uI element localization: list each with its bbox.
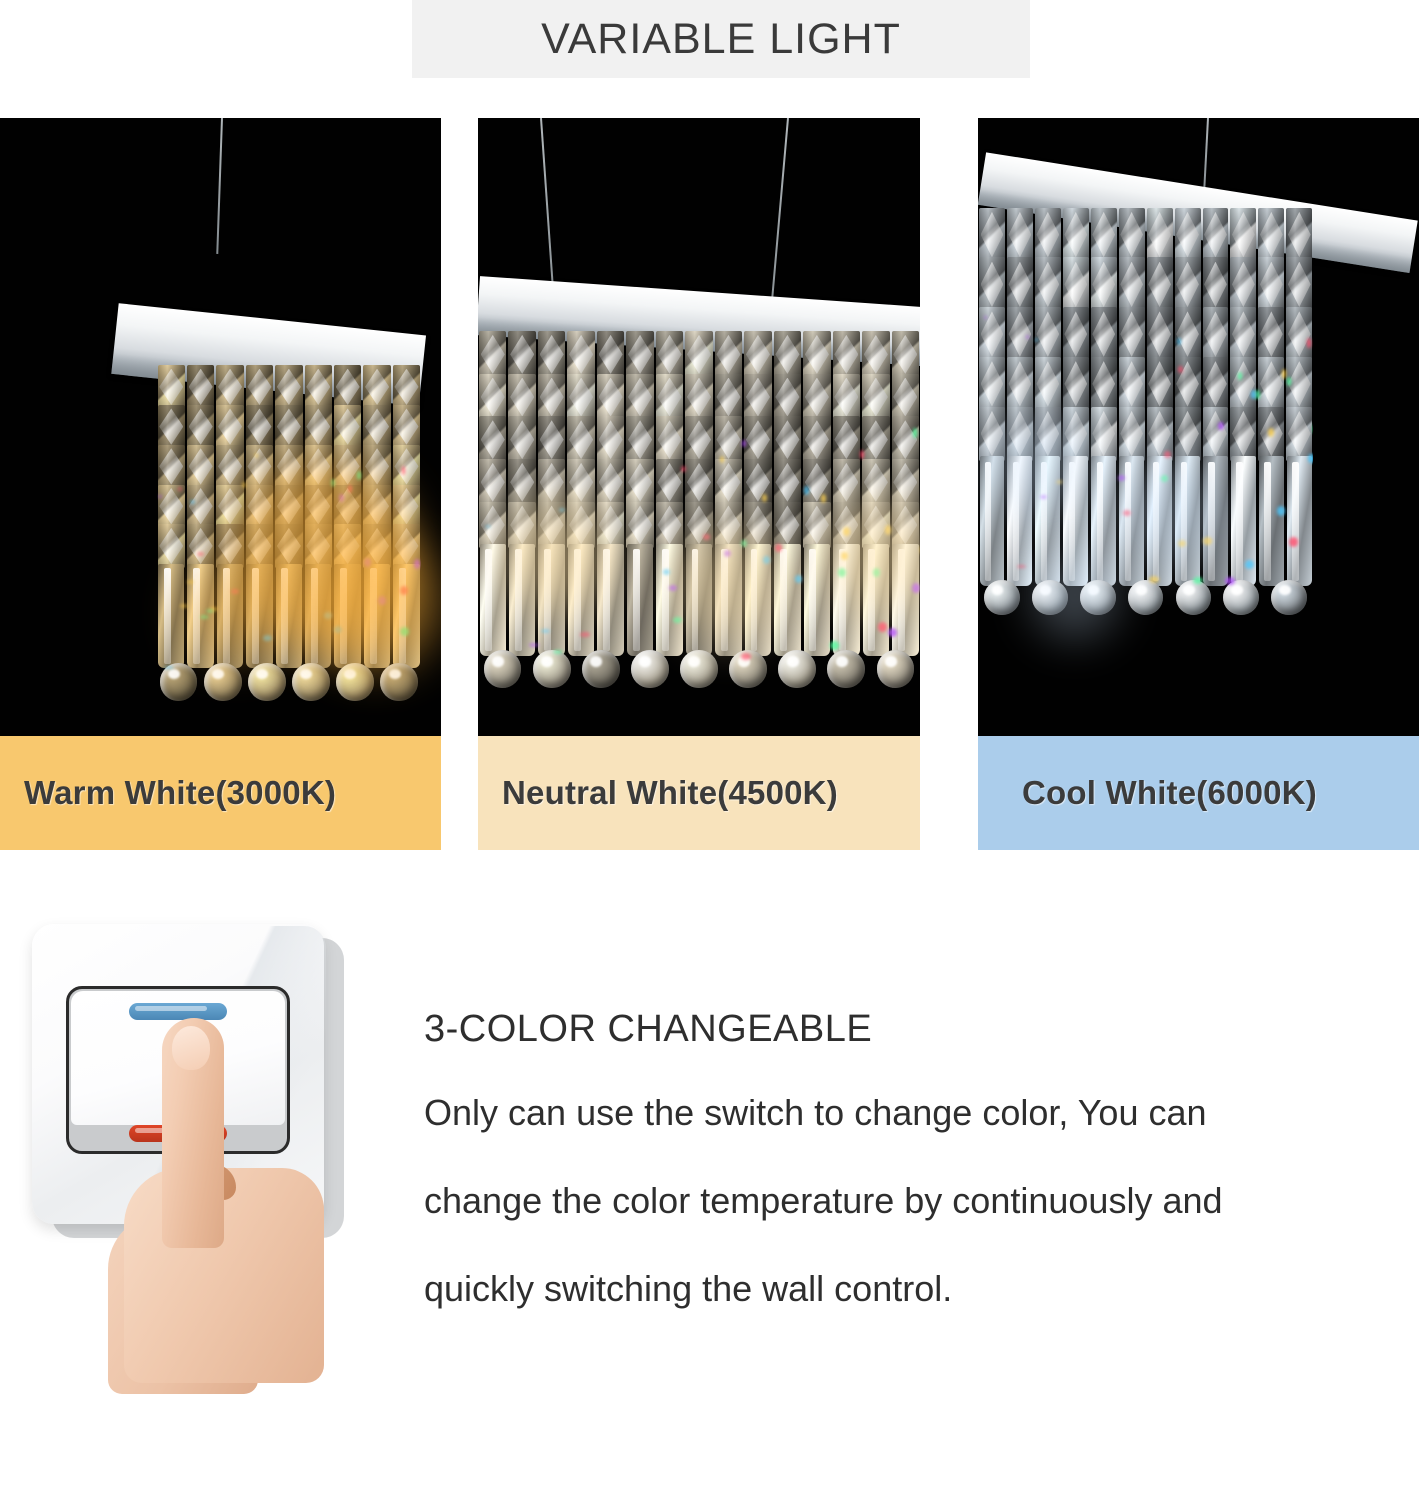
light-mode-panel-row: Warm White(3000K) Neutral White(4500K) C…: [0, 118, 1419, 850]
infographic-page: VARIABLE LIGHT Warm White(3000K) Neutral…: [0, 0, 1419, 1500]
pressing-hand: [118, 1018, 348, 1418]
caption-cool-white: Cool White(6000K): [978, 736, 1419, 850]
fingernail: [172, 1026, 210, 1070]
feature-body-line-1: Only can use the switch to change color,…: [424, 1095, 1414, 1131]
panel-warm-white: Warm White(3000K): [0, 118, 441, 850]
header-banner: VARIABLE LIGHT: [412, 0, 1030, 78]
chandelier-photo-cool: [978, 118, 1419, 736]
caption-label-warm: Warm White(3000K): [0, 774, 336, 812]
chandelier-photo-warm: [0, 118, 441, 736]
caption-label-cool: Cool White(6000K): [978, 774, 1317, 812]
chandelier-photo-neutral: [478, 118, 920, 736]
caption-neutral-white: Neutral White(4500K): [478, 736, 920, 850]
page-title: VARIABLE LIGHT: [541, 15, 901, 64]
feature-heading: 3-COLOR CHANGEABLE: [424, 1008, 1414, 1051]
feature-body-line-3: quickly switching the wall control.: [424, 1271, 1414, 1307]
caption-warm-white: Warm White(3000K): [0, 736, 441, 850]
panel-neutral-white: Neutral White(4500K): [478, 118, 920, 850]
panel-cool-white: Cool White(6000K): [978, 118, 1419, 850]
hand-fist: [124, 1168, 324, 1383]
feature-body-line-2: change the color temperature by continuo…: [424, 1183, 1414, 1219]
feature-text-block: 3-COLOR CHANGEABLE Only can use the swit…: [424, 1008, 1414, 1359]
wall-switch-illustration: [0, 900, 400, 1500]
caption-label-neutral: Neutral White(4500K): [478, 774, 838, 812]
